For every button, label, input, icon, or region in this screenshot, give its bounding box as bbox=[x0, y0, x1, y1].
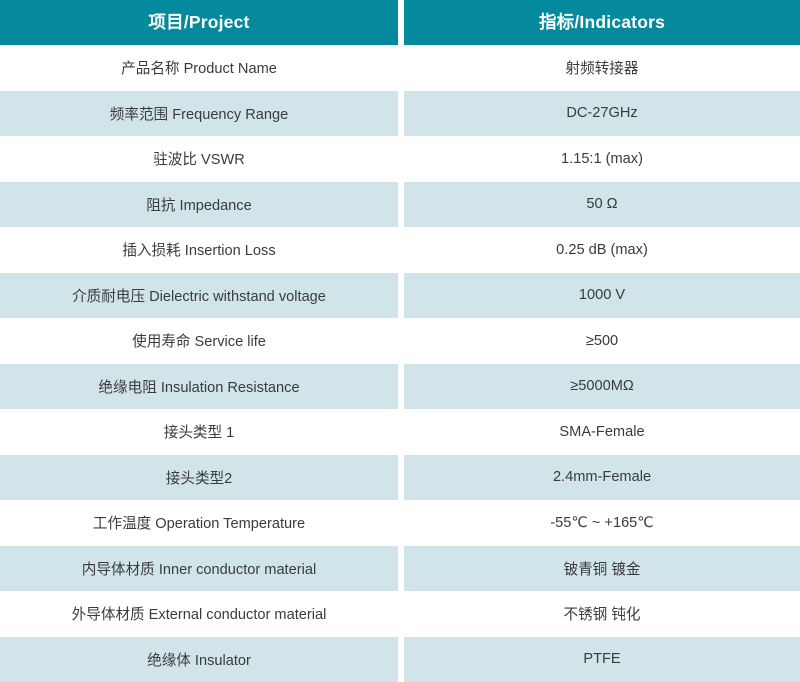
cell-indicator: 1.15:1 (max) bbox=[404, 136, 800, 182]
table-row: 使用寿命 Service life≥500 bbox=[0, 318, 800, 364]
cell-project: 接头类型 1 bbox=[0, 409, 398, 455]
table-row: 接头类型 1SMA-Female bbox=[0, 409, 800, 455]
table-body: 产品名称 Product Name射频转接器频率范围 Frequency Ran… bbox=[0, 45, 800, 682]
table-row: 驻波比 VSWR1.15:1 (max) bbox=[0, 136, 800, 182]
cell-indicator: DC-27GHz bbox=[404, 91, 800, 137]
cell-project: 介质耐电压 Dielectric withstand voltage bbox=[0, 273, 398, 319]
cell-project: 工作温度 Operation Temperature bbox=[0, 500, 398, 546]
table-row: 阻抗 Impedance50 Ω bbox=[0, 182, 800, 228]
table-row: 外导体材质 External conductor material不锈钢 钝化 bbox=[0, 591, 800, 637]
cell-indicator: 射频转接器 bbox=[404, 45, 800, 91]
cell-indicator: ≥5000MΩ bbox=[404, 364, 800, 410]
table-row: 绝缘体 InsulatorPTFE bbox=[0, 637, 800, 682]
table-row: 频率范围 Frequency RangeDC-27GHz bbox=[0, 91, 800, 137]
cell-project: 绝缘体 Insulator bbox=[0, 637, 398, 682]
specification-table: 项目/Project 指标/Indicators 产品名称 Product Na… bbox=[0, 0, 800, 682]
column-header-indicators: 指标/Indicators bbox=[404, 0, 800, 45]
table-row: 接头类型22.4mm-Female bbox=[0, 455, 800, 501]
column-header-project: 项目/Project bbox=[0, 0, 398, 45]
cell-indicator: PTFE bbox=[404, 637, 800, 682]
cell-indicator: 1000 V bbox=[404, 273, 800, 319]
cell-project: 外导体材质 External conductor material bbox=[0, 591, 398, 637]
header-row: 项目/Project 指标/Indicators bbox=[0, 0, 800, 45]
table-row: 内导体材质 Inner conductor material铍青铜 镀金 bbox=[0, 546, 800, 592]
table-header: 项目/Project 指标/Indicators bbox=[0, 0, 800, 45]
table-row: 产品名称 Product Name射频转接器 bbox=[0, 45, 800, 91]
cell-indicator: SMA-Female bbox=[404, 409, 800, 455]
table-row: 工作温度 Operation Temperature-55℃ ~ +165℃ bbox=[0, 500, 800, 546]
cell-project: 产品名称 Product Name bbox=[0, 45, 398, 91]
cell-project: 内导体材质 Inner conductor material bbox=[0, 546, 398, 592]
table-row: 介质耐电压 Dielectric withstand voltage1000 V bbox=[0, 273, 800, 319]
cell-indicator: ≥500 bbox=[404, 318, 800, 364]
cell-indicator: -55℃ ~ +165℃ bbox=[404, 500, 800, 546]
cell-project: 阻抗 Impedance bbox=[0, 182, 398, 228]
cell-project: 驻波比 VSWR bbox=[0, 136, 398, 182]
cell-indicator: 0.25 dB (max) bbox=[404, 227, 800, 273]
cell-project: 频率范围 Frequency Range bbox=[0, 91, 398, 137]
cell-project: 插入损耗 Insertion Loss bbox=[0, 227, 398, 273]
cell-project: 绝缘电阻 Insulation Resistance bbox=[0, 364, 398, 410]
cell-project: 接头类型2 bbox=[0, 455, 398, 501]
cell-indicator: 不锈钢 钝化 bbox=[404, 591, 800, 637]
cell-project: 使用寿命 Service life bbox=[0, 318, 398, 364]
table-row: 插入损耗 Insertion Loss0.25 dB (max) bbox=[0, 227, 800, 273]
cell-indicator: 2.4mm-Female bbox=[404, 455, 800, 501]
cell-indicator: 50 Ω bbox=[404, 182, 800, 228]
table-row: 绝缘电阻 Insulation Resistance≥5000MΩ bbox=[0, 364, 800, 410]
cell-indicator: 铍青铜 镀金 bbox=[404, 546, 800, 592]
